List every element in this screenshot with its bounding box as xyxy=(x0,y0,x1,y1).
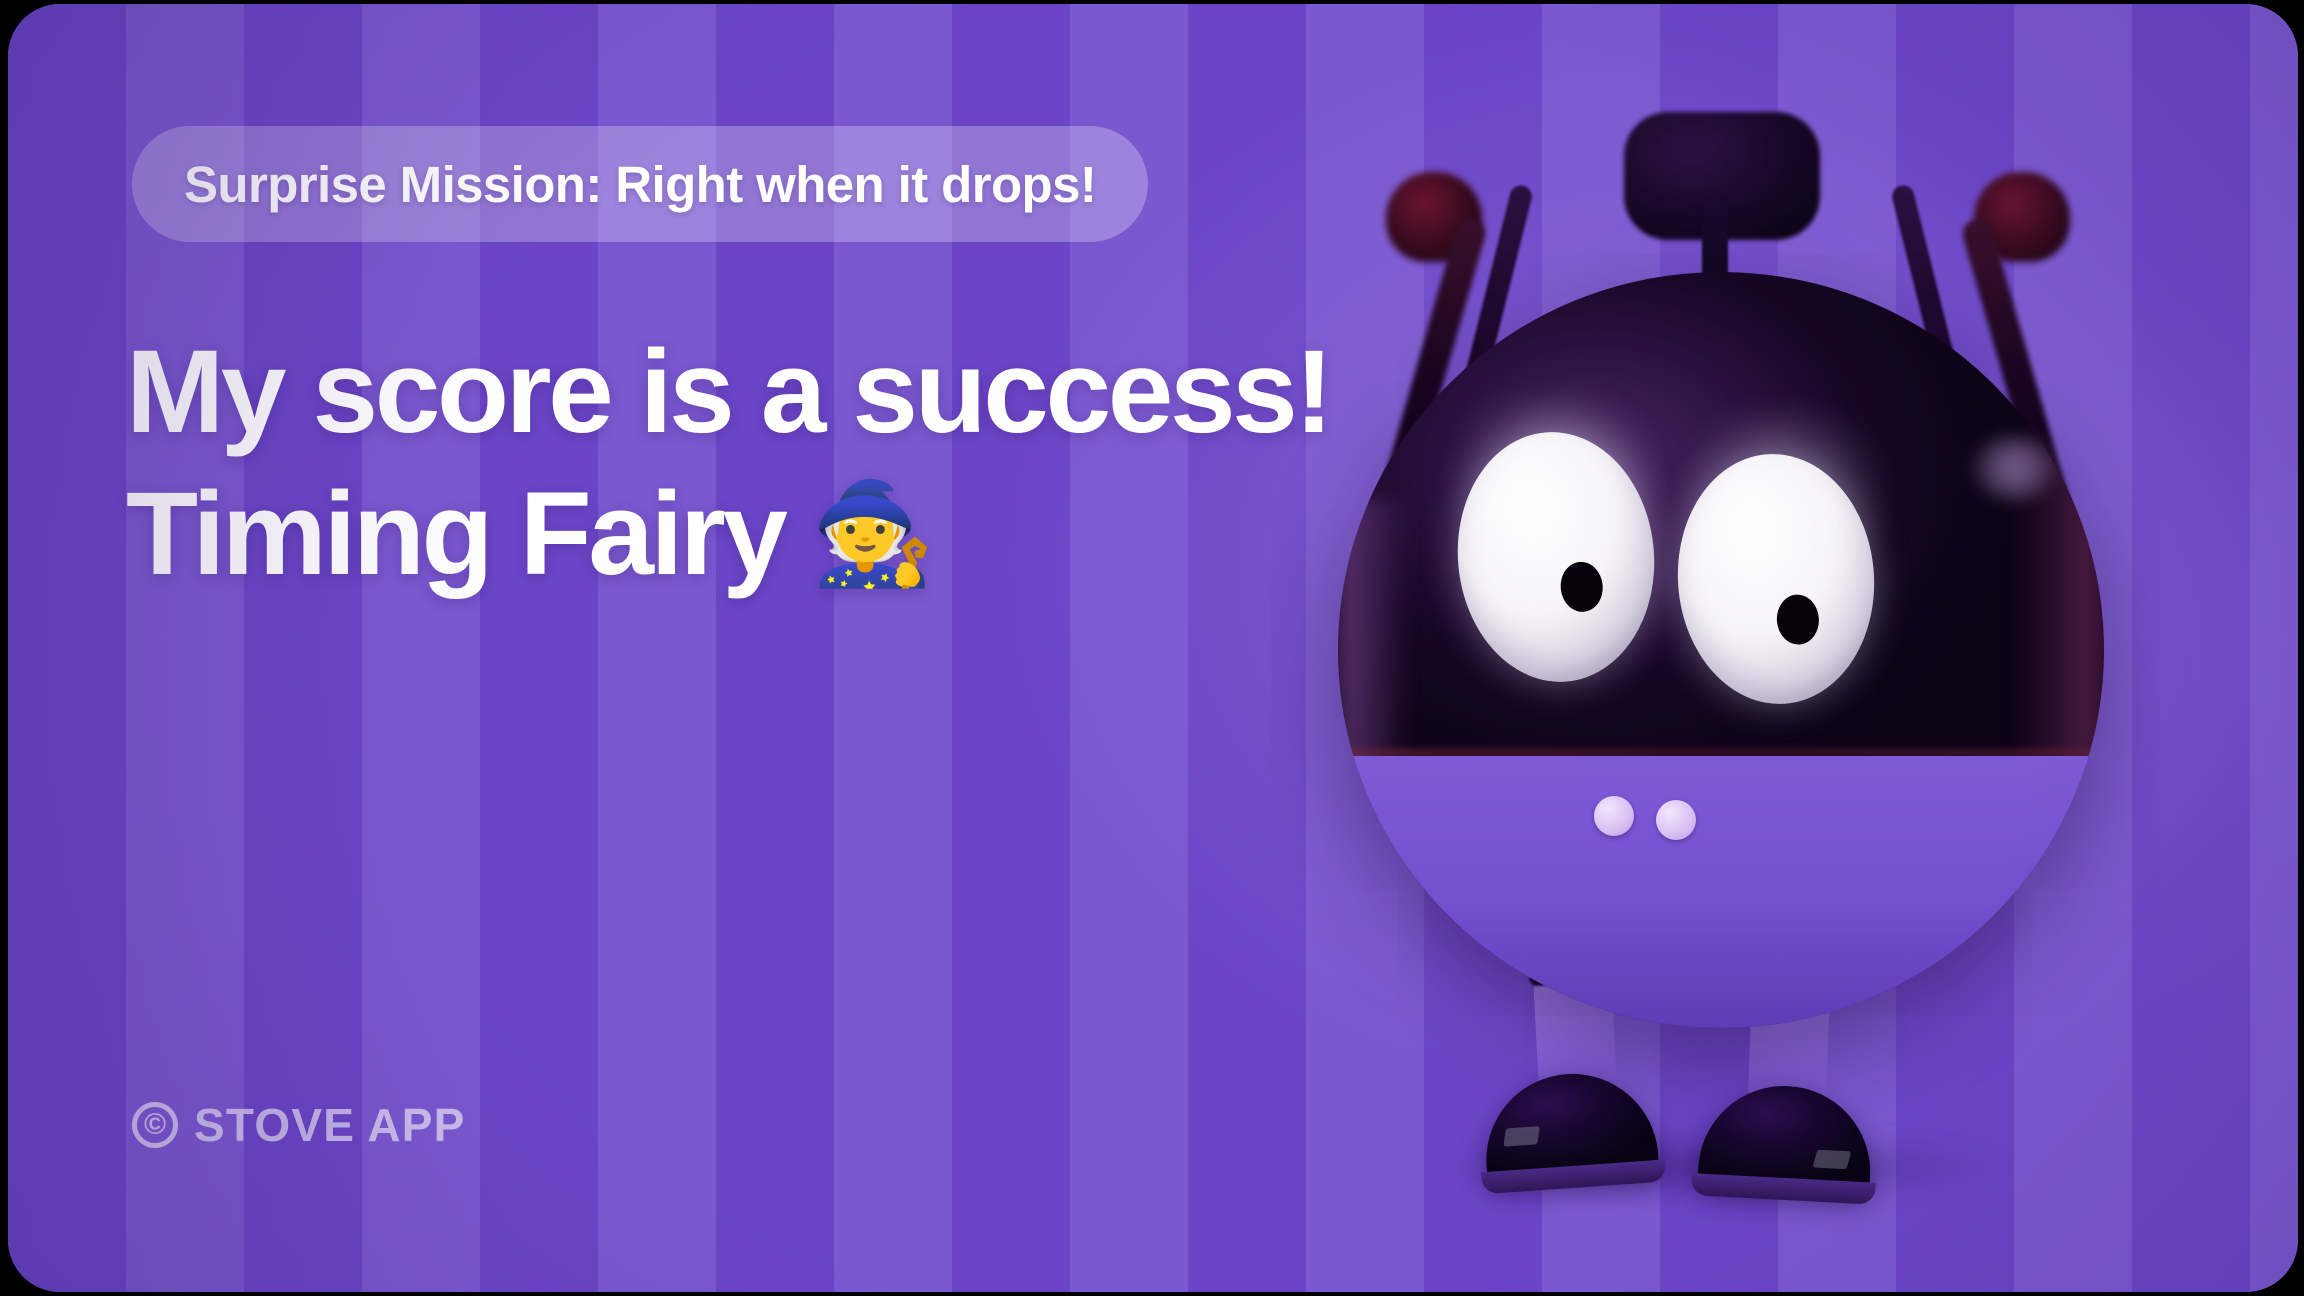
stove-app-mascot xyxy=(1298,64,2138,1164)
headline-line-1-text: My score is a success! xyxy=(126,326,1330,458)
footer-brand-label: STOVE APP xyxy=(194,1102,466,1148)
mascot-left-pupil xyxy=(1559,560,1605,613)
footer-credit: © STOVE APP xyxy=(132,1102,466,1148)
copyright-icon: © xyxy=(132,1102,178,1148)
mascot-lower-body xyxy=(1338,756,2104,1028)
headline-line-2-text: Timing Fairy xyxy=(126,468,785,600)
mission-badge-label: Surprise Mission: Right when it drops! xyxy=(184,159,1096,210)
mascot-left-boot-shine xyxy=(1503,1126,1539,1147)
screenshot-stage: Surprise Mission: Right when it drops! M… xyxy=(0,0,2304,1296)
headline-line-1: My score is a success! xyxy=(126,326,1306,458)
mascot-right-boot xyxy=(1697,1082,1874,1195)
headline-block: My score is a success! Timing Fairy 🧙 xyxy=(126,326,1306,600)
mascot-belly-button-2 xyxy=(1656,800,1696,840)
mascot-right-boot-shine xyxy=(1813,1150,1852,1170)
mage-wizard-emoji: 🧙 xyxy=(811,484,936,584)
headline-line-2: Timing Fairy 🧙 xyxy=(126,468,1306,600)
promo-card: Surprise Mission: Right when it drops! M… xyxy=(8,4,2298,1292)
mascot-left-boot xyxy=(1481,1068,1660,1184)
mascot-right-pupil xyxy=(1775,593,1820,646)
card-content: Surprise Mission: Right when it drops! M… xyxy=(8,4,1348,1292)
mascot-body-specular-highlight xyxy=(1974,436,2054,500)
mission-badge: Surprise Mission: Right when it drops! xyxy=(132,126,1148,242)
mascot-belly-button-1 xyxy=(1594,796,1634,836)
